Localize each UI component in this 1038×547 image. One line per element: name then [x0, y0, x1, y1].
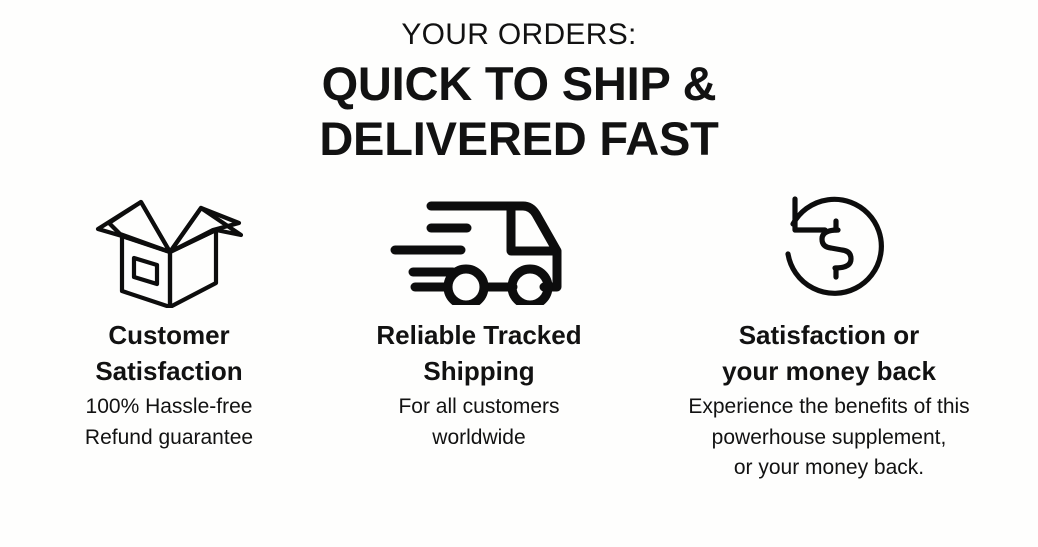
feature-title: Reliable Tracked Shipping	[376, 309, 581, 391]
feature-tracked-shipping: Reliable Tracked Shipping For all custom…	[329, 189, 629, 454]
feature-columns: Customer Satisfaction 100% Hassle-free R…	[0, 167, 1038, 484]
feature-desc-line-1: Experience the benefits of this	[688, 392, 969, 422]
headline-line-1: QUICK TO SHIP &	[0, 56, 1038, 111]
money-back-refund-icon	[769, 189, 889, 309]
feature-title-line-2: Shipping	[376, 353, 581, 390]
feature-title: Customer Satisfaction	[95, 309, 242, 391]
feature-title-line-1: Customer	[95, 317, 242, 354]
feature-description: Experience the benefits of this powerhou…	[688, 390, 969, 483]
feature-title-line-2: your money back	[722, 353, 936, 390]
feature-title-line-1: Reliable Tracked	[376, 317, 581, 354]
feature-desc-line-2: worldwide	[398, 423, 559, 453]
feature-desc-line-1: For all customers	[398, 392, 559, 422]
feature-desc-line-2: Refund guarantee	[85, 423, 253, 453]
feature-description: For all customers worldwide	[398, 390, 559, 453]
promo-banner: YOUR ORDERS: QUICK TO SHIP & DELIVERED F…	[0, 0, 1038, 547]
feature-desc-line-1: 100% Hassle-free	[85, 392, 253, 422]
headline-line-2: DELIVERED FAST	[0, 111, 1038, 166]
heading-block: YOUR ORDERS: QUICK TO SHIP & DELIVERED F…	[0, 0, 1038, 167]
feature-title-line-2: Satisfaction	[95, 353, 242, 390]
open-cardboard-box-icon	[89, 189, 249, 309]
page-title: QUICK TO SHIP & DELIVERED FAST	[0, 52, 1038, 167]
feature-money-back: Satisfaction or your money back Experien…	[629, 189, 1029, 484]
feature-customer-satisfaction: Customer Satisfaction 100% Hassle-free R…	[9, 189, 329, 454]
feature-desc-line-3: or your money back.	[688, 453, 969, 483]
feature-desc-line-2: powerhouse supplement,	[688, 423, 969, 453]
feature-title: Satisfaction or your money back	[722, 309, 936, 391]
eyebrow-text: YOUR ORDERS:	[0, 18, 1038, 52]
feature-title-line-1: Satisfaction or	[722, 317, 936, 354]
delivery-truck-icon	[389, 189, 569, 309]
feature-description: 100% Hassle-free Refund guarantee	[85, 390, 253, 453]
